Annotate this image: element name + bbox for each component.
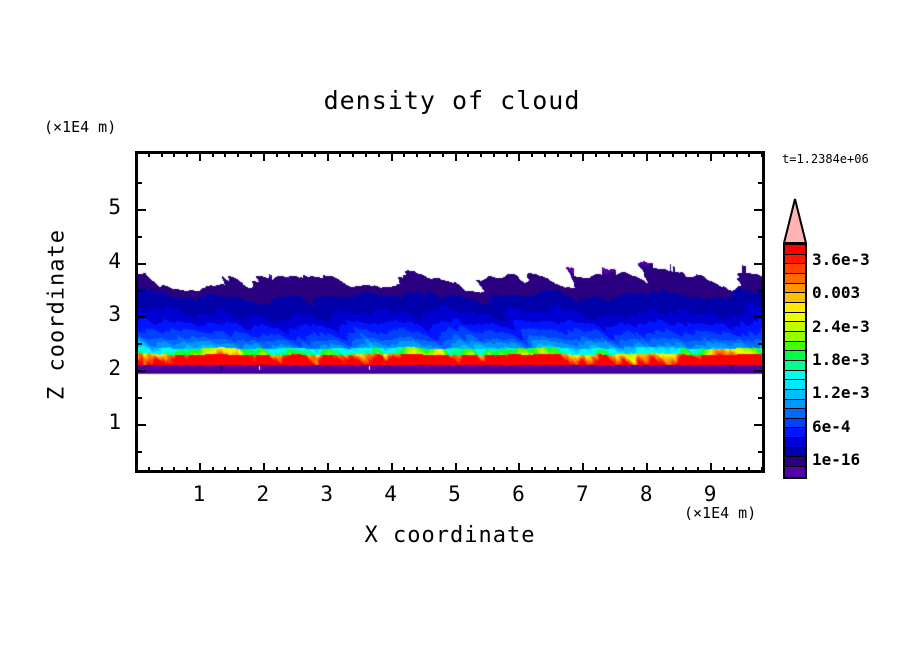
x-minor-tick [237, 467, 239, 473]
x-tick-label: 5 [440, 482, 470, 506]
x-minor-tick-top [148, 151, 150, 157]
x-major-tick [518, 463, 520, 473]
x-minor-tick-top [480, 151, 482, 157]
x-major-tick [327, 463, 329, 473]
plot-area [135, 151, 765, 473]
x-minor-tick [633, 467, 635, 473]
y-major-tick [135, 370, 146, 372]
x-minor-tick-top [276, 151, 278, 157]
colorbar-band [785, 400, 805, 410]
x-minor-tick-top [748, 151, 750, 157]
x-tick-label: 4 [376, 482, 406, 506]
x-minor-tick-top [685, 151, 687, 157]
y-tick-label: 5 [91, 195, 121, 219]
colorbar-band [785, 380, 805, 390]
figure-canvas: density of cloud (×1E4 m) (×1E4 m) t=1.2… [0, 0, 904, 654]
x-major-tick [455, 463, 457, 473]
colorbar-bands [783, 243, 807, 479]
x-minor-tick-top [531, 151, 533, 157]
x-minor-tick-top [723, 151, 725, 157]
x-minor-tick [608, 467, 610, 473]
y-minor-tick [135, 397, 142, 399]
x-minor-tick [276, 467, 278, 473]
time-stamp-label: t=1.2384e+06 [782, 152, 869, 166]
x-minor-tick [467, 467, 469, 473]
x-minor-tick [672, 467, 674, 473]
x-minor-tick-top [672, 151, 674, 157]
x-minor-tick-top [237, 151, 239, 157]
x-major-tick-top [327, 151, 329, 161]
x-minor-tick [697, 467, 699, 473]
x-minor-tick-top [186, 151, 188, 157]
y-major-tick-right [754, 263, 765, 265]
x-minor-tick-top [314, 151, 316, 157]
y-minor-tick [135, 290, 142, 292]
colorbar-tick-label: 2.4e-3 [812, 317, 870, 336]
x-major-tick-top [263, 151, 265, 161]
y-minor-tick-right [758, 397, 765, 399]
y-axis-units-label: (×1E4 m) [44, 118, 116, 136]
x-major-tick [646, 463, 648, 473]
x-minor-tick [173, 467, 175, 473]
x-minor-tick-top [301, 151, 303, 157]
colorbar-band [785, 274, 805, 284]
y-major-tick-right [754, 209, 765, 211]
x-minor-tick-top [467, 151, 469, 157]
y-minor-tick-right [758, 290, 765, 292]
colorbar [783, 198, 807, 480]
x-tick-label: 9 [695, 482, 725, 506]
x-minor-tick [301, 467, 303, 473]
x-tick-label: 1 [184, 482, 214, 506]
x-major-tick [710, 463, 712, 473]
x-minor-tick [685, 467, 687, 473]
x-major-tick-top [646, 151, 648, 161]
y-tick-label: 3 [91, 302, 121, 326]
x-minor-tick [314, 467, 316, 473]
colorbar-arrow-icon [783, 198, 807, 244]
x-minor-tick-top [659, 151, 661, 157]
x-minor-tick-top [761, 151, 763, 157]
x-minor-tick-top [429, 151, 431, 157]
x-minor-tick-top [506, 151, 508, 157]
colorbar-tick-label: 3.6e-3 [812, 250, 870, 269]
colorbar-band [785, 361, 805, 371]
x-minor-tick [570, 467, 572, 473]
x-minor-tick-top [608, 151, 610, 157]
colorbar-band [785, 255, 805, 265]
x-major-tick [199, 463, 201, 473]
x-major-tick [582, 463, 584, 473]
x-minor-tick [506, 467, 508, 473]
x-major-tick-top [455, 151, 457, 161]
x-minor-tick-top [378, 151, 380, 157]
x-tick-label: 8 [631, 482, 661, 506]
colorbar-tick-label: 0.003 [812, 283, 860, 302]
x-major-tick-top [391, 151, 393, 161]
x-minor-tick-top [557, 151, 559, 157]
x-major-tick-top [518, 151, 520, 161]
colorbar-band [785, 351, 805, 361]
colorbar-tick-label: 1.2e-3 [812, 383, 870, 402]
colorbar-tick-label: 6e-4 [812, 417, 851, 436]
colorbar-band [785, 428, 805, 438]
colorbar-band [785, 322, 805, 332]
x-minor-tick-top [250, 151, 252, 157]
colorbar-band [785, 419, 805, 429]
y-tick-label: 4 [91, 249, 121, 273]
x-minor-tick-top [403, 151, 405, 157]
x-minor-tick [659, 467, 661, 473]
colorbar-tick-label: 1e-16 [812, 450, 860, 469]
colorbar-band [785, 342, 805, 352]
y-minor-tick [135, 343, 142, 345]
x-major-tick [263, 463, 265, 473]
x-minor-tick-top [365, 151, 367, 157]
colorbar-tick-label: 1.8e-3 [812, 350, 870, 369]
x-minor-tick-top [339, 151, 341, 157]
y-axis-title: Z coordinate [45, 205, 70, 425]
x-major-tick-top [199, 151, 201, 161]
x-minor-tick-top [621, 151, 623, 157]
x-minor-tick-top [161, 151, 163, 157]
y-minor-tick [135, 182, 142, 184]
page-title: density of cloud [0, 86, 904, 115]
x-minor-tick [339, 467, 341, 473]
x-minor-tick [186, 467, 188, 473]
x-minor-tick-top [224, 151, 226, 157]
x-minor-tick [403, 467, 405, 473]
y-major-tick [135, 424, 146, 426]
x-minor-tick [493, 467, 495, 473]
colorbar-band [785, 264, 805, 274]
x-minor-tick [748, 467, 750, 473]
x-minor-tick-top [595, 151, 597, 157]
y-minor-tick [135, 236, 142, 238]
x-minor-tick-top [697, 151, 699, 157]
x-tick-label: 3 [312, 482, 342, 506]
colorbar-band [785, 457, 805, 467]
x-minor-tick-top [493, 151, 495, 157]
colorbar-band [785, 284, 805, 294]
colorbar-band [785, 448, 805, 458]
x-minor-tick [736, 467, 738, 473]
y-minor-tick-right [758, 343, 765, 345]
colorbar-band [785, 390, 805, 400]
x-minor-tick-top [633, 151, 635, 157]
x-minor-tick [378, 467, 380, 473]
x-minor-tick-top [570, 151, 572, 157]
x-minor-tick [148, 467, 150, 473]
x-minor-tick [212, 467, 214, 473]
colorbar-band [785, 293, 805, 303]
x-minor-tick [531, 467, 533, 473]
x-minor-tick [544, 467, 546, 473]
x-minor-tick-top [544, 151, 546, 157]
x-tick-label: 7 [567, 482, 597, 506]
y-tick-label: 1 [91, 410, 121, 434]
x-minor-tick [365, 467, 367, 473]
y-major-tick-right [754, 370, 765, 372]
x-tick-label: 2 [248, 482, 278, 506]
y-minor-tick-right [758, 236, 765, 238]
y-major-tick-right [754, 316, 765, 318]
x-minor-tick-top [212, 151, 214, 157]
colorbar-band [785, 409, 805, 419]
x-minor-tick-top [736, 151, 738, 157]
x-minor-tick [761, 467, 763, 473]
x-minor-tick [288, 467, 290, 473]
y-major-tick-right [754, 424, 765, 426]
x-minor-tick [557, 467, 559, 473]
x-minor-tick-top [352, 151, 354, 157]
y-major-tick [135, 316, 146, 318]
colorbar-band [785, 332, 805, 342]
x-minor-tick [723, 467, 725, 473]
x-major-tick [391, 463, 393, 473]
x-minor-tick [595, 467, 597, 473]
x-minor-tick [480, 467, 482, 473]
x-minor-tick [621, 467, 623, 473]
x-minor-tick-top [442, 151, 444, 157]
y-tick-label: 2 [91, 356, 121, 380]
colorbar-band [785, 303, 805, 313]
y-minor-tick-right [758, 182, 765, 184]
colorbar-band [785, 313, 805, 323]
x-minor-tick [250, 467, 252, 473]
x-tick-label: 6 [503, 482, 533, 506]
y-minor-tick-right [758, 451, 765, 453]
x-axis-title: X coordinate [135, 523, 765, 548]
x-minor-tick [224, 467, 226, 473]
y-major-tick [135, 209, 146, 211]
colorbar-band [785, 245, 805, 255]
x-minor-tick-top [173, 151, 175, 157]
x-minor-tick [442, 467, 444, 473]
x-minor-tick [161, 467, 163, 473]
x-minor-tick [352, 467, 354, 473]
x-minor-tick-top [288, 151, 290, 157]
colorbar-band [785, 467, 805, 477]
x-major-tick-top [710, 151, 712, 161]
x-major-tick-top [582, 151, 584, 161]
x-minor-tick [416, 467, 418, 473]
colorbar-band [785, 438, 805, 448]
x-minor-tick [429, 467, 431, 473]
colorbar-band [785, 371, 805, 381]
y-major-tick [135, 263, 146, 265]
x-minor-tick-top [416, 151, 418, 157]
y-minor-tick [135, 451, 142, 453]
contour-field [138, 154, 765, 473]
x-axis-units-label: (×1E4 m) [684, 504, 756, 522]
